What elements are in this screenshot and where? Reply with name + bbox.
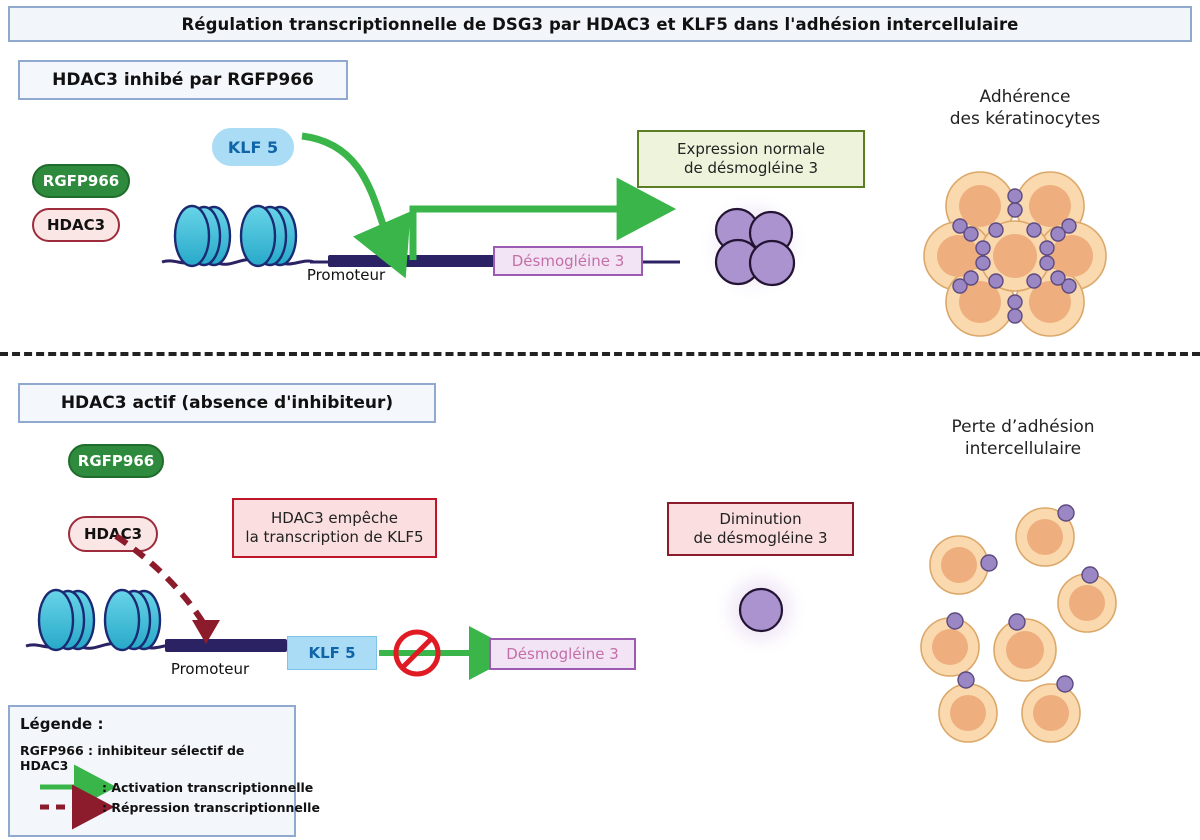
expression-normale-box: Expression normale de désmogléine 3: [637, 130, 865, 188]
dsg3-gene-label: Désmogléine 3: [506, 645, 619, 663]
rgfp966-badge-panel-a: RGFP966: [32, 164, 130, 198]
diminution-line2: de désmogléine 3: [693, 529, 827, 548]
keratinocyte-rosette-adherent: [930, 168, 1120, 333]
desmoglein-unit: [740, 589, 782, 631]
nucleosome-icon: [39, 590, 94, 650]
adherence-caption-line2: des kératinocytes: [900, 108, 1150, 130]
keratinocytes-scattered-nonadherent: [905, 485, 1190, 740]
legend-row-activation: : Activation transcriptionnelle: [20, 779, 284, 795]
rgfp966-badge-label: RGFP966: [78, 452, 154, 470]
rgfp966-badge-panel-b: RGFP966: [68, 444, 164, 478]
legend-box: Légende : RGFP966 : inhibiteur sélectif …: [8, 705, 296, 837]
panel-b-header-label: HDAC3 actif (absence d'inhibiteur): [61, 393, 393, 413]
legend-row-repression: : Répression transcriptionnelle: [20, 799, 284, 815]
perte-caption-line2: intercellulaire: [898, 438, 1148, 460]
diminution-line1: Diminution: [719, 510, 801, 529]
expression-normale-line1: Expression normale: [677, 140, 825, 159]
blocked-transcription-arrow: [377, 626, 495, 681]
activation-arrow-klf5: [302, 136, 388, 238]
diagram-title-banner: Régulation transcriptionnelle de DSG3 pa…: [8, 6, 1192, 42]
dsg3-gene-box-panel-b: Désmogléine 3: [489, 638, 636, 670]
nucleosome-icon: [105, 590, 160, 650]
promoter-label-panel-b: Promoteur: [140, 660, 280, 678]
perte-adhesion-caption: Perte d’adhésion intercellulaire: [898, 416, 1148, 461]
klf5-box-panel-b: KLF 5: [287, 636, 377, 670]
promoter-label-panel-a: Promoteur: [276, 266, 416, 284]
desmoglein-unit: [750, 241, 794, 285]
adherence-caption-line1: Adhérence: [900, 86, 1150, 108]
perte-caption-line1: Perte d’adhésion: [898, 416, 1148, 438]
diagram-canvas: Régulation transcriptionnelle de DSG3 pa…: [0, 0, 1200, 840]
panel-a-header: HDAC3 inhibé par RGFP966: [18, 60, 348, 100]
repression-arrow-icon: [38, 799, 96, 815]
legend-title: Légende :: [20, 715, 284, 733]
legend-inhibitor-line: RGFP966 : inhibiteur sélectif de HDAC3: [20, 743, 284, 773]
activation-arrow-icon: [38, 779, 96, 795]
desmoglein-single-panel-b: [705, 560, 817, 660]
panel-a-header-label: HDAC3 inhibé par RGFP966: [52, 70, 314, 90]
nucleosome-icon: [175, 206, 230, 266]
page-title: Régulation transcriptionnelle de DSG3 pa…: [182, 15, 1019, 34]
expression-normale-line2: de désmogléine 3: [684, 159, 818, 178]
panel-b-header: HDAC3 actif (absence d'inhibiteur): [18, 383, 436, 423]
adherence-caption: Adhérence des kératinocytes: [900, 86, 1150, 131]
dsg3-gene-label: Désmogléine 3: [512, 252, 625, 270]
legend-repression-label: : Répression transcriptionnelle: [102, 800, 320, 815]
klf5-box-label: KLF 5: [308, 644, 355, 662]
rgfp966-badge-label: RGFP966: [43, 172, 119, 190]
diminution-box: Diminution de désmogléine 3: [667, 502, 854, 556]
hdac3-badge-label: HDAC3: [47, 216, 105, 234]
legend-activation-label: : Activation transcriptionnelle: [102, 780, 313, 795]
dsg3-gene-box-panel-a: Désmogléine 3: [493, 246, 643, 276]
promoter-bar: [165, 639, 287, 652]
desmoglein-tetramer-panel-a: [690, 190, 820, 310]
panel-divider: [0, 352, 1200, 356]
nucleosome-icon: [241, 206, 296, 266]
hdac3-badge-panel-a: HDAC3: [32, 208, 120, 242]
